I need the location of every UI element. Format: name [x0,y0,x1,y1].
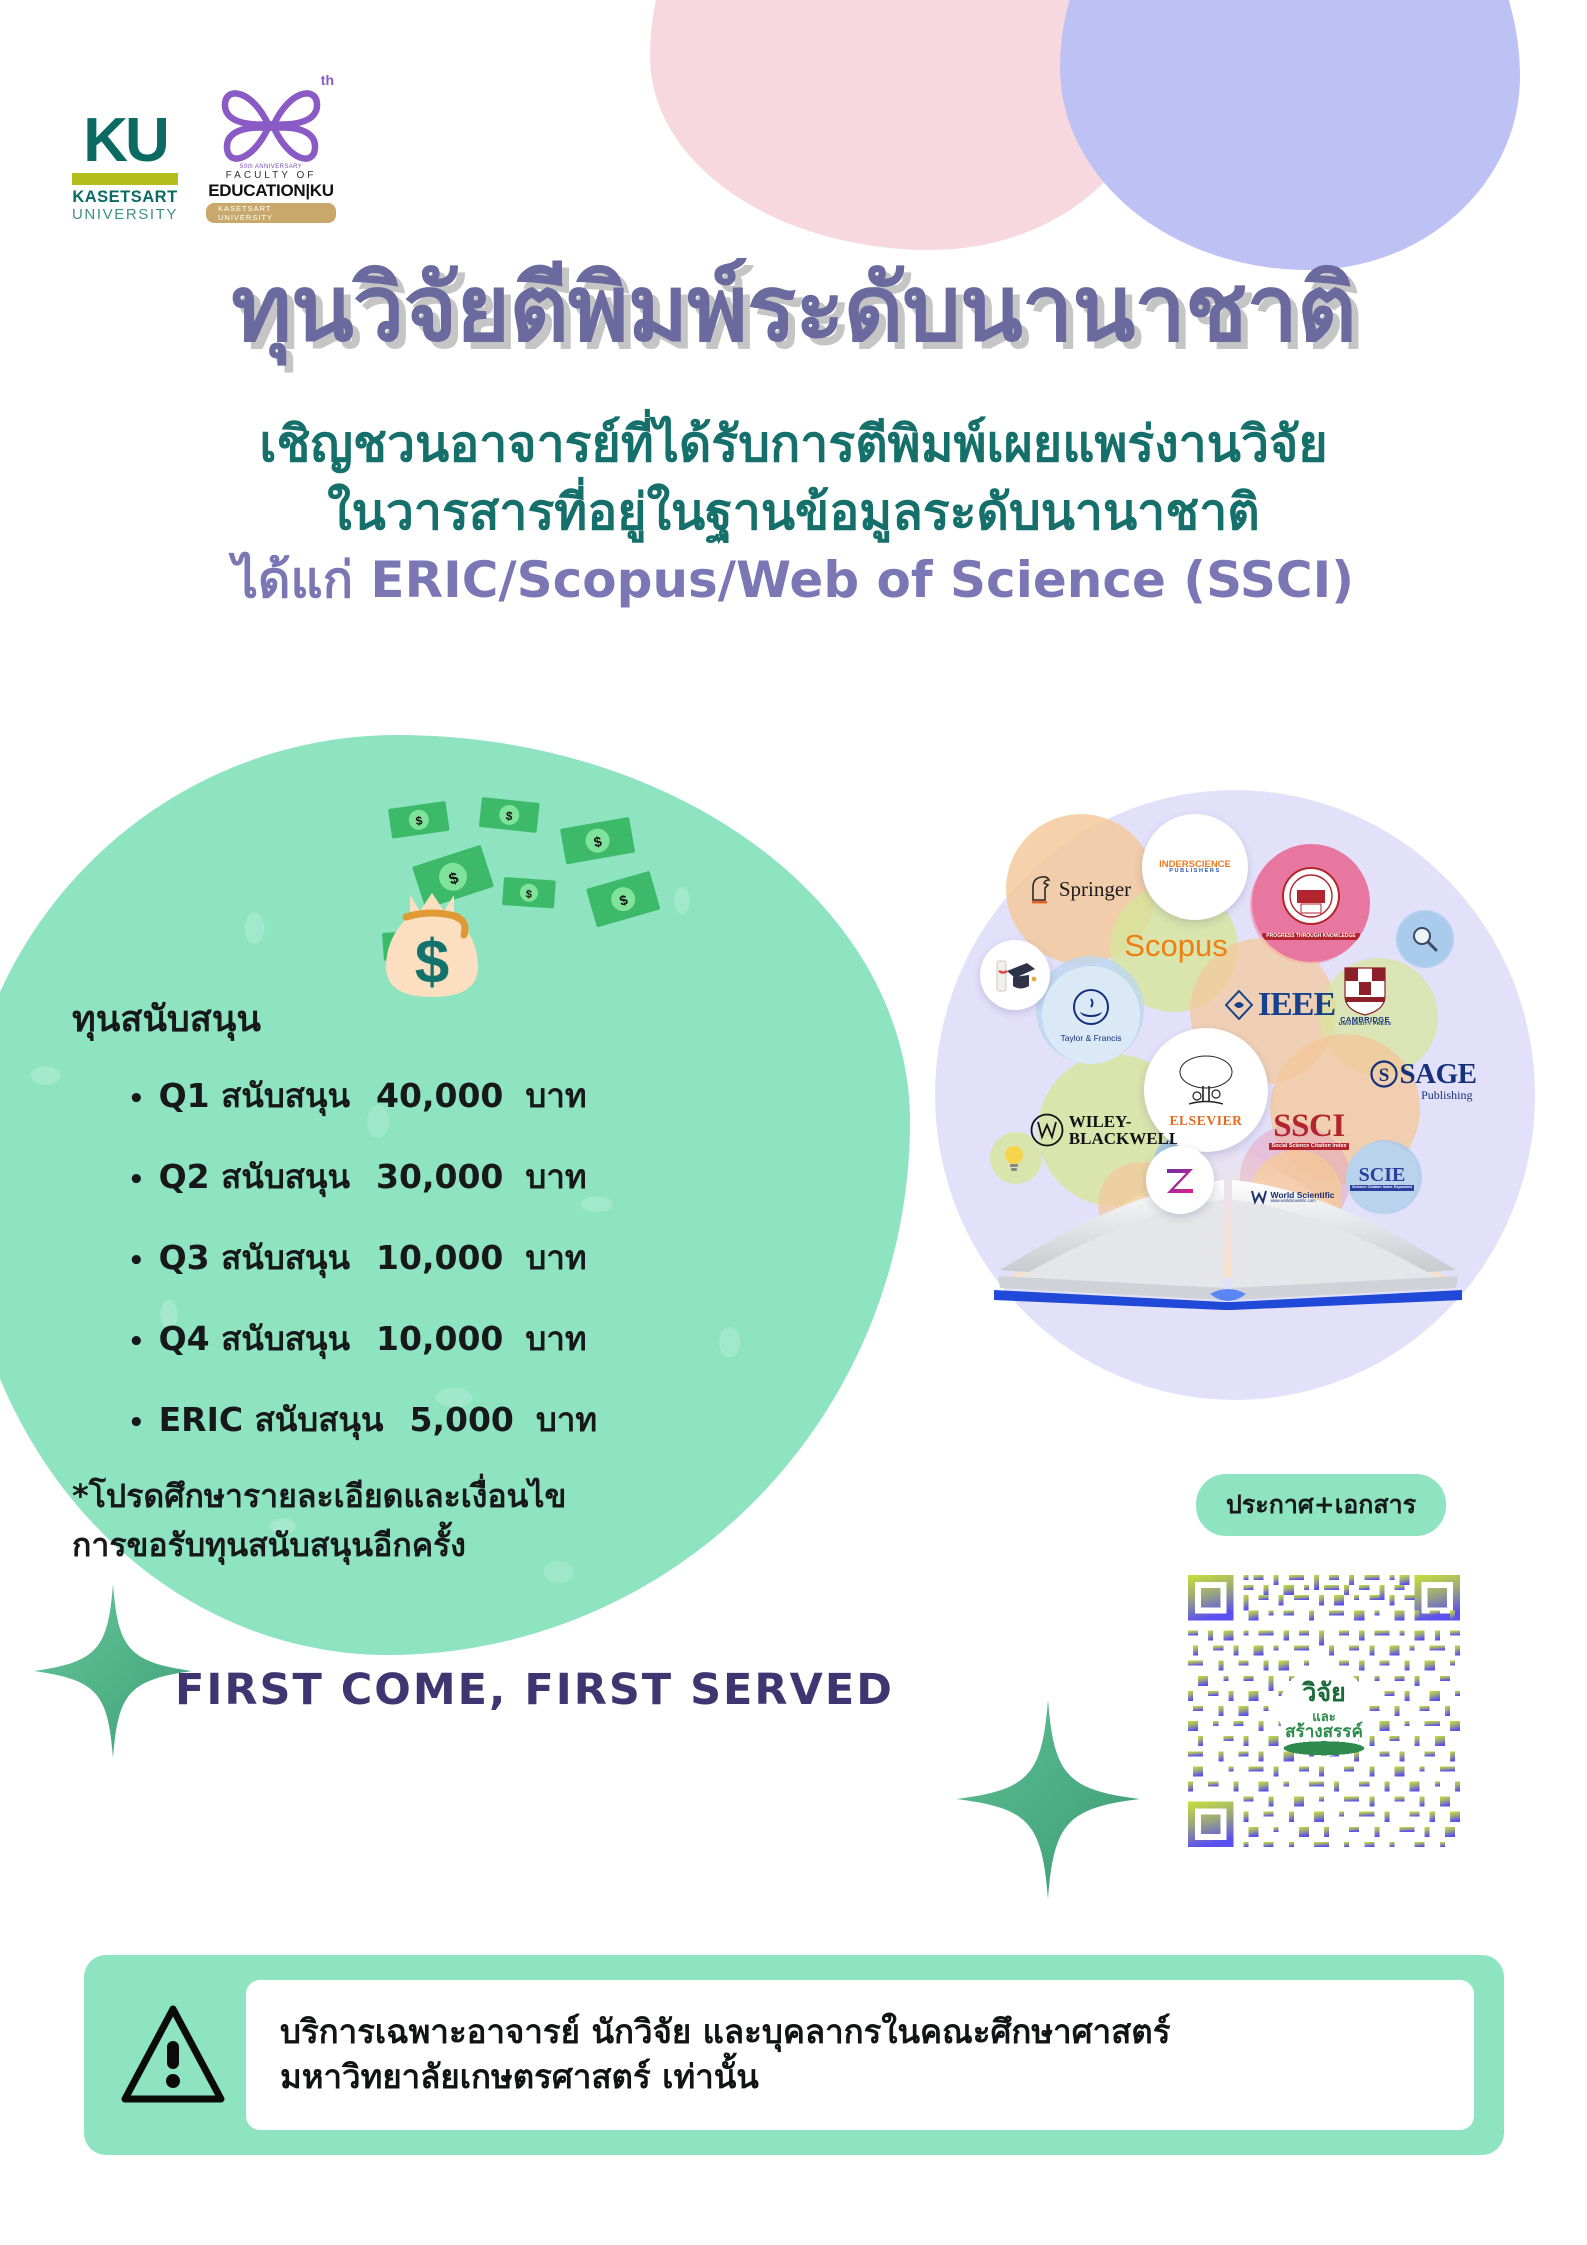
qr-badge-label[interactable]: ประกาศ+เอกสาร [1196,1474,1446,1536]
svg-text:วิจัย: วิจัย [1301,1678,1345,1707]
funding-amount-value: 10,000 [376,1319,503,1358]
funding-amount-value: 10,000 [376,1238,503,1277]
subtitle-line-3: ได้แก่ ERIC/Scopus/Web of Science (SSCI) [0,546,1587,614]
blackwell-label: BLACKWELL [1069,1130,1180,1147]
funding-block: ทุนสนับสนุน • Q1 สนับสนุน 40,000 บาท • Q… [72,990,752,1569]
funding-item-q2: • Q2 สนับสนุน 30,000 บาท [128,1150,752,1203]
elsevier-tree-icon [1173,1052,1239,1114]
funding-amount-value: 40,000 [376,1076,503,1115]
logo-chip-lightbulb [990,1134,1038,1182]
ku-monogram: KU [83,112,167,169]
notice-text-card: บริการเฉพาะอาจารย์ นักวิจัย และบุคลากรใน… [246,1980,1474,2130]
elsevier-label: ELSEVIER [1169,1114,1242,1128]
first-come-first-served-tagline: FIRST COME, FIRST SERVED [175,1665,894,1715]
funding-amount-value: 30,000 [376,1157,503,1196]
svg-text:S: S [1378,1065,1389,1086]
lightbulb-icon [1001,1143,1027,1173]
logo-chip-taylor-francis: Taylor & Francis [1042,966,1140,1064]
bullet-icon: • [128,1329,145,1355]
notice-line-2: มหาวิทยาลัยเกษตรศาสตร์ เท่านั้น [280,2055,1440,2100]
scie-label: SCIE [1359,1165,1406,1185]
poster-subtitle: เชิญชวนอาจารย์ที่ได้รับการตีพิมพ์เผยแพร่… [0,410,1587,614]
education-ku-label: EDUCATION|KU [208,181,334,201]
funding-tier-label: Q1 สนับสนุน [159,1069,350,1122]
poster-canvas: KU KASETSART UNIVERSITY th 50th ANNIVERS… [0,0,1587,2245]
world-scientific-w-icon [1251,1189,1267,1205]
svg-text:$: $ [415,928,449,997]
funding-unit-label: บาท [525,1312,586,1365]
kasetsart-band-label: KASETSART UNIVERSITY [206,203,336,223]
funding-unit-label: บาท [525,1150,586,1203]
subtitle-line-2: ในวารสารที่อยู่ในฐานข้อมูลระดับนานาชาติ [0,478,1587,546]
svg-text:สร้างสรรค์: สร้างสรรค์ [1285,1721,1363,1742]
taylor-francis-lamp-icon [1066,988,1116,1032]
logo-chip-graduation-cap [980,940,1050,1010]
logo-chip-anna-university: PROGRESS THROUGH KNOWLEDGE [1252,844,1370,962]
sage-label: SAGE [1400,1060,1477,1089]
scie-sub-label: Science Citation Index Expanded [1350,1185,1414,1191]
funding-note-line-1: *โปรดศึกษารายละเอียดและเงื่อนไข [72,1474,752,1519]
wiley-monogram-icon [1030,1113,1064,1147]
bullet-icon: • [128,1248,145,1274]
bullet-icon: • [128,1086,145,1112]
subtitle-line-1: เชิญชวนอาจารย์ที่ได้รับการตีพิมพ์เผยแพร่… [0,410,1587,478]
funding-heading: ทุนสนับสนุน [72,990,752,1047]
ku-name-label: KASETSART [72,188,177,206]
money-bag-icon: $ [386,893,478,997]
sparkle-icon-center [948,1692,1148,1912]
zendy-z-icon [1162,1163,1198,1197]
funding-tier-label: Q2 สนับสนุน [159,1150,350,1203]
funding-list: • Q1 สนับสนุน 40,000 บาท • Q2 สนับสนุน 3… [128,1069,752,1446]
scopus-label: Scopus [1124,930,1227,961]
funding-item-q4: • Q4 สนับสนุน 10,000 บาท [128,1312,752,1365]
sparkle-icon-left [28,1576,198,1771]
journal-logos-cluster: Springer INDERSCIENCE PUBLISHERS PROGRES… [950,790,1530,1400]
funding-tier-label: Q4 สนับสนุน [159,1312,350,1365]
funding-item-eric: • ERIC สนับสนุน 5,000 บาท [128,1393,752,1446]
logo-chip-scie: SCIE Science Citation Index Expanded [1346,1142,1418,1214]
bullet-icon: • [128,1167,145,1193]
ssci-sub-label: Social Science Citation Index [1269,1143,1350,1150]
poster-title: ทุนวิจัยตีพิมพ์ระดับนานาชาติ [0,258,1587,359]
faculty-of-label: FACULTY OF [226,170,317,181]
inderscience-sub-label: PUBLISHERS [1169,869,1220,875]
sage-sub-label: Publishing [1421,1089,1472,1101]
anniversary-th-superscript: th [321,72,334,88]
logo-chip-cambridge: CAMBRIDGE UNIVERSITY PRESS [1322,954,1408,1040]
springer-label: Springer [1059,879,1131,900]
ku-sub-label: UNIVERSITY [72,206,178,223]
world-scientific-sub-label: www.worldscientific.com [1270,1199,1315,1203]
magnifier-icon [1411,925,1439,953]
anna-university-gear-icon [1273,866,1349,932]
funding-unit-label: บาท [536,1393,597,1446]
logo-row: KU KASETSART UNIVERSITY th 50th ANNIVERS… [72,74,336,223]
funding-item-q3: • Q3 สนับสนุน 10,000 บาท [128,1231,752,1284]
decor-blob-periwinkle [1060,0,1520,270]
logo-chip-search-magnifier [1398,912,1452,966]
graduation-cap-icon [993,955,1037,995]
cambridge-sub-label: UNIVERSITY PRESS [1339,1023,1392,1028]
funding-tier-label: Q3 สนับสนุน [159,1231,350,1284]
notice-line-1: บริการเฉพาะอาจารย์ นักวิจัย และบุคลากรใน… [280,2010,1440,2055]
butterfly-icon [212,74,330,170]
logo-chip-zendy [1146,1146,1214,1214]
notice-banner: บริการเฉพาะอาจารย์ นักวิจัย และบุคลากรใน… [84,1955,1504,2155]
cambridge-crest-icon [1342,966,1388,1016]
qr-code[interactable]: วิจัย และ สร้างสรรค์ [1178,1565,1470,1857]
sage-s-icon: S [1370,1060,1398,1088]
wiley-label: WILEY- [1069,1113,1132,1130]
ieee-diamond-icon [1225,990,1253,1020]
warning-triangle-icon [114,2003,232,2107]
kasetsart-university-logo: KU KASETSART UNIVERSITY [72,112,178,223]
funding-tier-label: ERIC สนับสนุน [159,1393,384,1446]
logo-chip-world-scientific: World Scientific www.worldscientific.com [1248,1152,1338,1242]
svg-text:$: $ [525,889,532,901]
funding-note-line-2: การขอรับทุนสนับสนุนอีกครั้ง [72,1523,752,1568]
funding-unit-label: บาท [525,1231,586,1284]
funding-unit-label: บาท [525,1069,586,1122]
faculty-of-education-logo: th 50th ANNIVERSARY FACULTY OF EDUCATION… [206,74,336,223]
bullet-icon: • [128,1410,145,1436]
springer-horse-icon [1027,874,1053,904]
funding-item-q1: • Q1 สนับสนุน 40,000 บาท [128,1069,752,1122]
ssci-label: SSCI [1273,1110,1344,1143]
anna-university-motto-label: PROGRESS THROUGH KNOWLEDGE [1262,933,1359,940]
taylor-francis-label: Taylor & Francis [1061,1034,1122,1043]
ku-olive-bar [72,173,178,185]
logo-chip-sage: S SAGE Publishing [1348,1034,1498,1126]
money-bag-illustration: $ $ $ $ $ [380,755,690,1015]
funding-amount-value: 5,000 [409,1400,513,1439]
